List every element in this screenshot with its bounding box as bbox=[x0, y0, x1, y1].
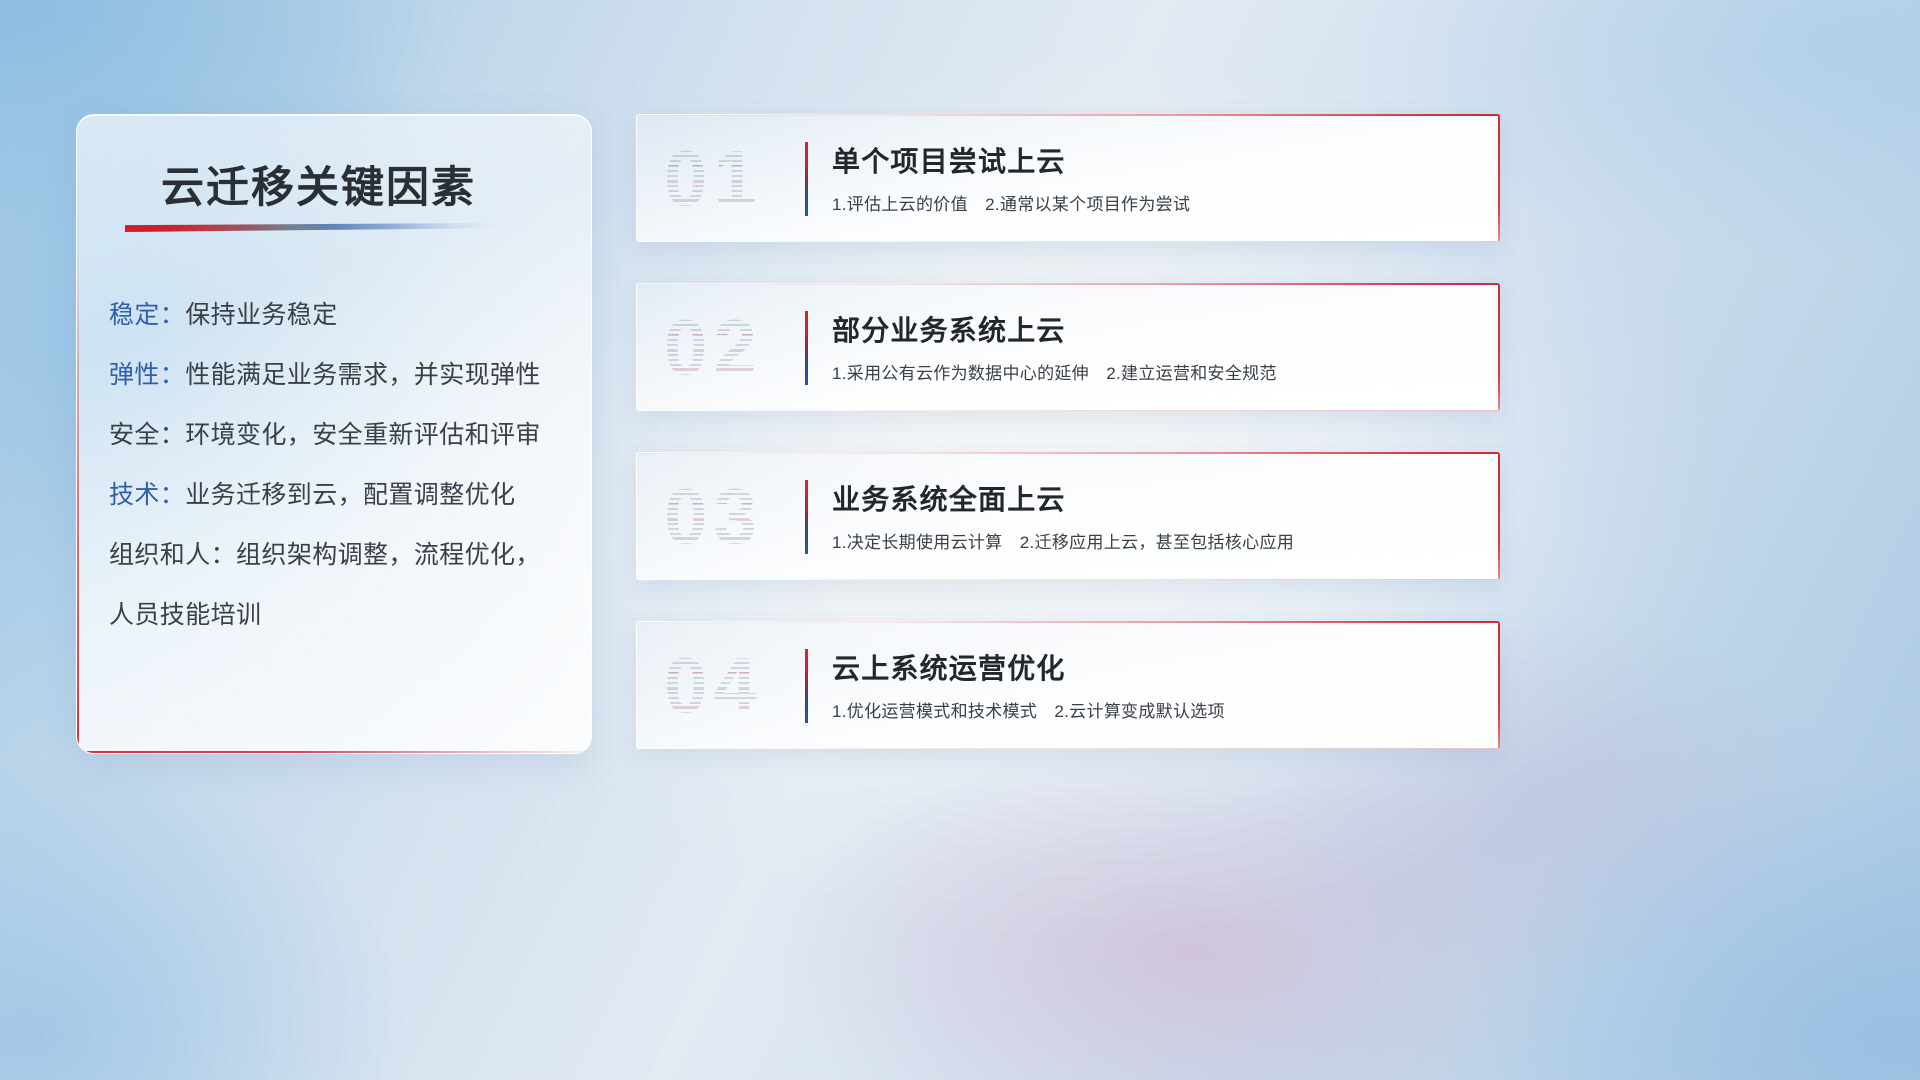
card-vertical-accent-bar bbox=[805, 649, 808, 723]
stage-card[interactable]: 02 02 部分业务系统上云 1.采用公有云作为数据中心的延伸 2.建立运营和安… bbox=[636, 283, 1500, 411]
stage-card-description: 1.评估上云的价值 2.通常以某个项目作为尝试 bbox=[832, 190, 1190, 215]
card-top-accent-line bbox=[636, 452, 1500, 454]
card-bottom-hairline bbox=[636, 579, 1500, 580]
key-factors-panel: 云迁移关键因素 稳定：保持业务稳定 弹性：性能满足业务需求，并实现弹性 安全：环… bbox=[76, 114, 592, 754]
list-item-label: 安全： bbox=[109, 421, 185, 449]
card-left-hairline bbox=[636, 283, 637, 411]
card-right-accent-line bbox=[1498, 283, 1500, 411]
stage-number-ghost-tint: 04 bbox=[664, 646, 763, 724]
stage-card[interactable]: 01 01 单个项目尝试上云 1.评估上云的价值 2.通常以某个项目作为尝试 bbox=[636, 114, 1500, 242]
list-item: 安全：环境变化，安全重新评估和评审 bbox=[109, 423, 573, 448]
list-item-text: 组织架构调整，流程优化， bbox=[236, 541, 541, 569]
card-top-accent-line bbox=[636, 114, 1500, 116]
list-item-text: 性能满足业务需求，并实现弹性 bbox=[185, 361, 541, 389]
title-underline-accent bbox=[125, 223, 497, 232]
stage-number-ghost-tint: 01 bbox=[664, 139, 763, 217]
card-bottom-hairline bbox=[636, 241, 1500, 242]
stage-cards-list: 01 01 单个项目尝试上云 1.评估上云的价值 2.通常以某个项目作为尝试 0… bbox=[636, 114, 1500, 749]
card-top-accent-line bbox=[636, 283, 1500, 285]
card-right-accent-line bbox=[1498, 114, 1500, 242]
card-right-accent-line bbox=[1498, 621, 1500, 749]
page-title: 云迁移关键因素 bbox=[161, 153, 476, 215]
stage-card[interactable]: 03 03 业务系统全面上云 1.决定长期使用云计算 2.迁移应用上云，甚至包括… bbox=[636, 452, 1500, 580]
stage-number-ghost-tint: 02 bbox=[664, 308, 763, 386]
card-vertical-accent-bar bbox=[805, 311, 808, 385]
list-item-label: 弹性： bbox=[109, 361, 185, 389]
list-item: 技术：业务迁移到云，配置调整优化 bbox=[109, 483, 573, 508]
stage-card-description: 1.决定长期使用云计算 2.迁移应用上云，甚至包括核心应用 bbox=[832, 528, 1294, 553]
stage-card[interactable]: 04 04 云上系统运营优化 1.优化运营模式和技术模式 2.云计算变成默认选项 bbox=[636, 621, 1500, 749]
list-item: 弹性：性能满足业务需求，并实现弹性 bbox=[109, 363, 573, 388]
card-bottom-hairline bbox=[636, 410, 1500, 411]
card-right-accent-line bbox=[1498, 452, 1500, 580]
card-vertical-accent-bar bbox=[805, 480, 808, 554]
stage-number-ghost-tint: 03 bbox=[664, 477, 763, 555]
stage-card-title: 单个项目尝试上云 bbox=[832, 140, 1066, 180]
stage-card-title: 云上系统运营优化 bbox=[832, 647, 1066, 687]
list-item-text: 人员技能培训 bbox=[109, 601, 261, 629]
list-item-text: 业务迁移到云，配置调整优化 bbox=[185, 481, 515, 509]
list-item-label: 稳定： bbox=[109, 301, 185, 329]
list-item: 组织和人：组织架构调整，流程优化， bbox=[109, 543, 573, 568]
card-bottom-hairline bbox=[636, 748, 1500, 749]
list-item-continuation: 人员技能培训 bbox=[109, 603, 573, 628]
list-item-label: 组织和人： bbox=[109, 541, 236, 569]
card-vertical-accent-bar bbox=[805, 142, 808, 216]
list-item: 稳定：保持业务稳定 bbox=[109, 303, 573, 328]
stage-card-title: 业务系统全面上云 bbox=[832, 478, 1066, 518]
stage-card-description: 1.优化运营模式和技术模式 2.云计算变成默认选项 bbox=[832, 697, 1225, 722]
stage-card-title: 部分业务系统上云 bbox=[832, 309, 1066, 349]
card-top-accent-line bbox=[636, 621, 1500, 623]
card-left-hairline bbox=[636, 452, 637, 580]
list-item-text: 环境变化，安全重新评估和评审 bbox=[185, 421, 541, 449]
key-factors-list: 稳定：保持业务稳定 弹性：性能满足业务需求，并实现弹性 安全：环境变化，安全重新… bbox=[109, 303, 573, 628]
list-item-text: 保持业务稳定 bbox=[185, 301, 337, 329]
slide-canvas: 云迁移关键因素 稳定：保持业务稳定 弹性：性能满足业务需求，并实现弹性 安全：环… bbox=[0, 0, 1920, 1080]
stage-card-description: 1.采用公有云作为数据中心的延伸 2.建立运营和安全规范 bbox=[832, 359, 1277, 384]
card-left-hairline bbox=[636, 621, 637, 749]
list-item-label: 技术： bbox=[109, 481, 185, 509]
card-left-hairline bbox=[636, 114, 637, 242]
